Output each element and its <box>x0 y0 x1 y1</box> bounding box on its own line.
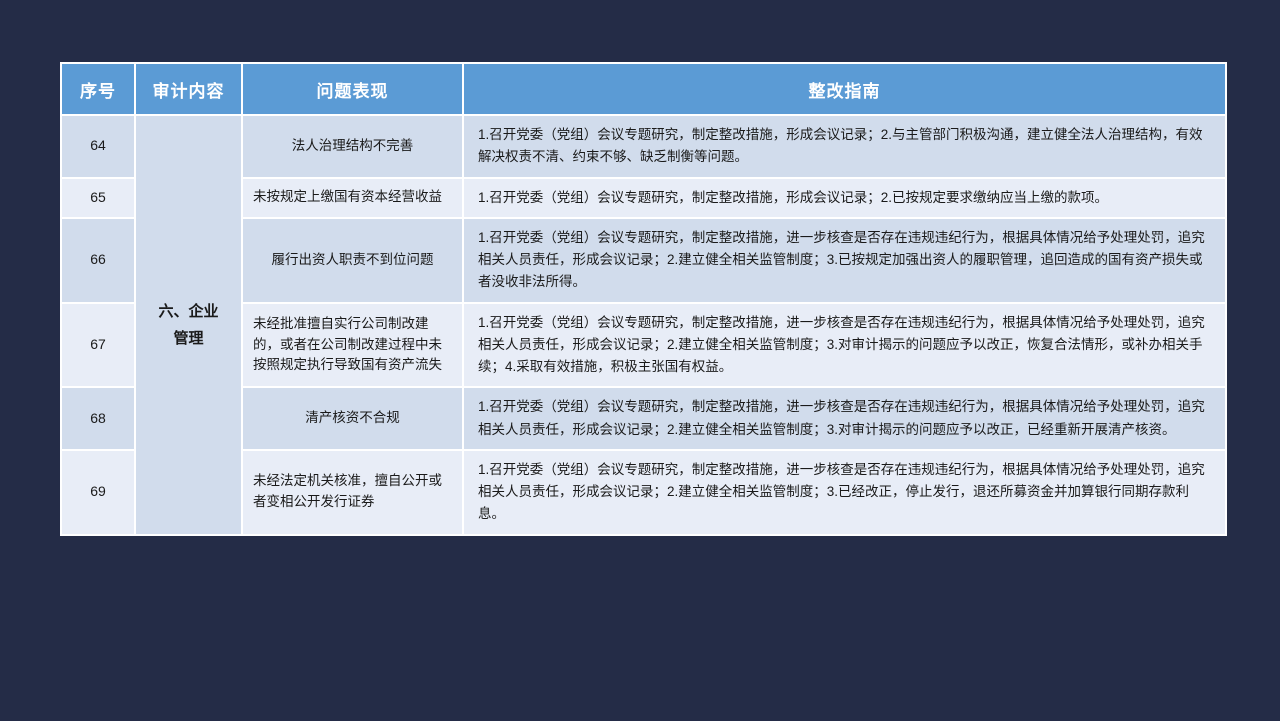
cell-seq: 66 <box>62 219 134 302</box>
audit-table-container: 序号 审计内容 问题表现 整改指南 64 六、企业 管理 法人治理结构不完善 1… <box>60 62 1221 536</box>
cell-problem: 清产核资不合规 <box>243 388 462 449</box>
cell-problem: 履行出资人职责不到位问题 <box>243 219 462 302</box>
cell-problem: 未经批准擅自实行公司制改建的，或者在公司制改建过程中未按照规定执行导致国有资产流… <box>243 304 462 387</box>
cell-problem: 法人治理结构不完善 <box>243 116 462 177</box>
cell-seq: 68 <box>62 388 134 449</box>
cell-guide: 1.召开党委（党组）会议专题研究，制定整改措施，形成会议记录；2.与主管部门积极… <box>464 116 1225 177</box>
column-header-guide: 整改指南 <box>464 64 1225 114</box>
category-label-line2: 管理 <box>173 330 203 347</box>
table-header-row: 序号 审计内容 问题表现 整改指南 <box>62 64 1225 114</box>
table-body: 64 六、企业 管理 法人治理结构不完善 1.召开党委（党组）会议专题研究，制定… <box>62 116 1225 534</box>
cell-seq: 67 <box>62 304 134 387</box>
table-header: 序号 审计内容 问题表现 整改指南 <box>62 64 1225 114</box>
audit-rectification-table: 序号 审计内容 问题表现 整改指南 64 六、企业 管理 法人治理结构不完善 1… <box>60 62 1227 536</box>
cell-problem: 未按规定上缴国有资本经营收益 <box>243 179 462 217</box>
column-header-category: 审计内容 <box>136 64 241 114</box>
cell-guide: 1.召开党委（党组）会议专题研究，制定整改措施，进一步核查是否存在违规违纪行为，… <box>464 219 1225 302</box>
column-header-seq: 序号 <box>62 64 134 114</box>
cell-guide: 1.召开党委（党组）会议专题研究，制定整改措施，进一步核查是否存在违规违纪行为，… <box>464 388 1225 449</box>
cell-seq: 64 <box>62 116 134 177</box>
cell-seq: 65 <box>62 179 134 217</box>
cell-guide: 1.召开党委（党组）会议专题研究，制定整改措施，进一步核查是否存在违规违纪行为，… <box>464 451 1225 534</box>
cell-problem: 未经法定机关核准，擅自公开或者变相公开发行证券 <box>243 451 462 534</box>
cell-seq: 69 <box>62 451 134 534</box>
cell-category-merged: 六、企业 管理 <box>136 116 241 534</box>
table-row: 64 六、企业 管理 法人治理结构不完善 1.召开党委（党组）会议专题研究，制定… <box>62 116 1225 177</box>
column-header-problem: 问题表现 <box>243 64 462 114</box>
cell-guide: 1.召开党委（党组）会议专题研究，制定整改措施，进一步核查是否存在违规违纪行为，… <box>464 304 1225 387</box>
category-label-line1: 六、企业 <box>158 303 218 320</box>
cell-guide: 1.召开党委（党组）会议专题研究，制定整改措施，形成会议记录；2.已按规定要求缴… <box>464 179 1225 217</box>
slide-canvas: 序号 审计内容 问题表现 整改指南 64 六、企业 管理 法人治理结构不完善 1… <box>0 0 1280 721</box>
